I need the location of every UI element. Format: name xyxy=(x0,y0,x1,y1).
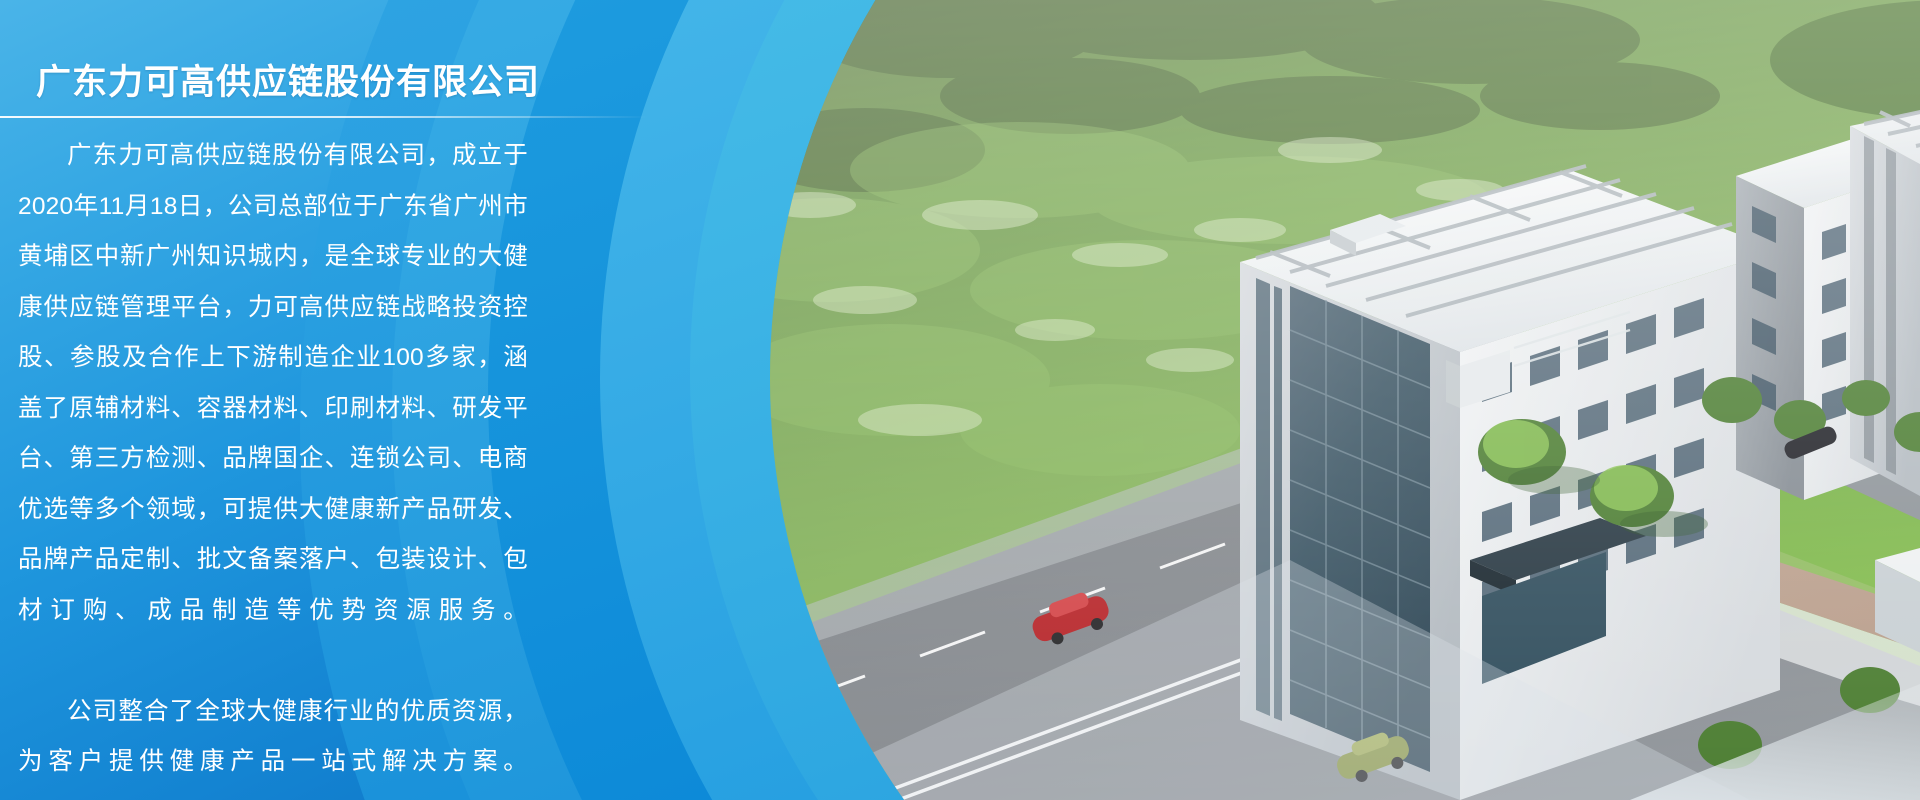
page-title: 广东力可高供应链股份有限公司 xyxy=(36,54,540,105)
industrial-park-photo: 知识城医药产业园 xyxy=(770,0,1920,800)
paragraph-2: 公司整合了全球大健康行业的优质资源，为客户提供健康产品一站式解决方案。 xyxy=(18,687,528,800)
title-divider xyxy=(0,116,648,118)
company-description: 广东力可高供应链股份有限公司，成立于2020年11月18日，公司总部位于广东省广… xyxy=(18,131,528,800)
paragraph-1: 广东力可高供应链股份有限公司，成立于2020年11月18日，公司总部位于广东省广… xyxy=(18,131,528,687)
banner: 知识城医药产业园 xyxy=(0,0,1920,800)
text-panel: 广东力可高供应链股份有限公司 广东力可高供应链股份有限公司，成立于2020年11… xyxy=(0,0,560,800)
aerial-rendering: 知识城医药产业园 xyxy=(770,0,1920,800)
